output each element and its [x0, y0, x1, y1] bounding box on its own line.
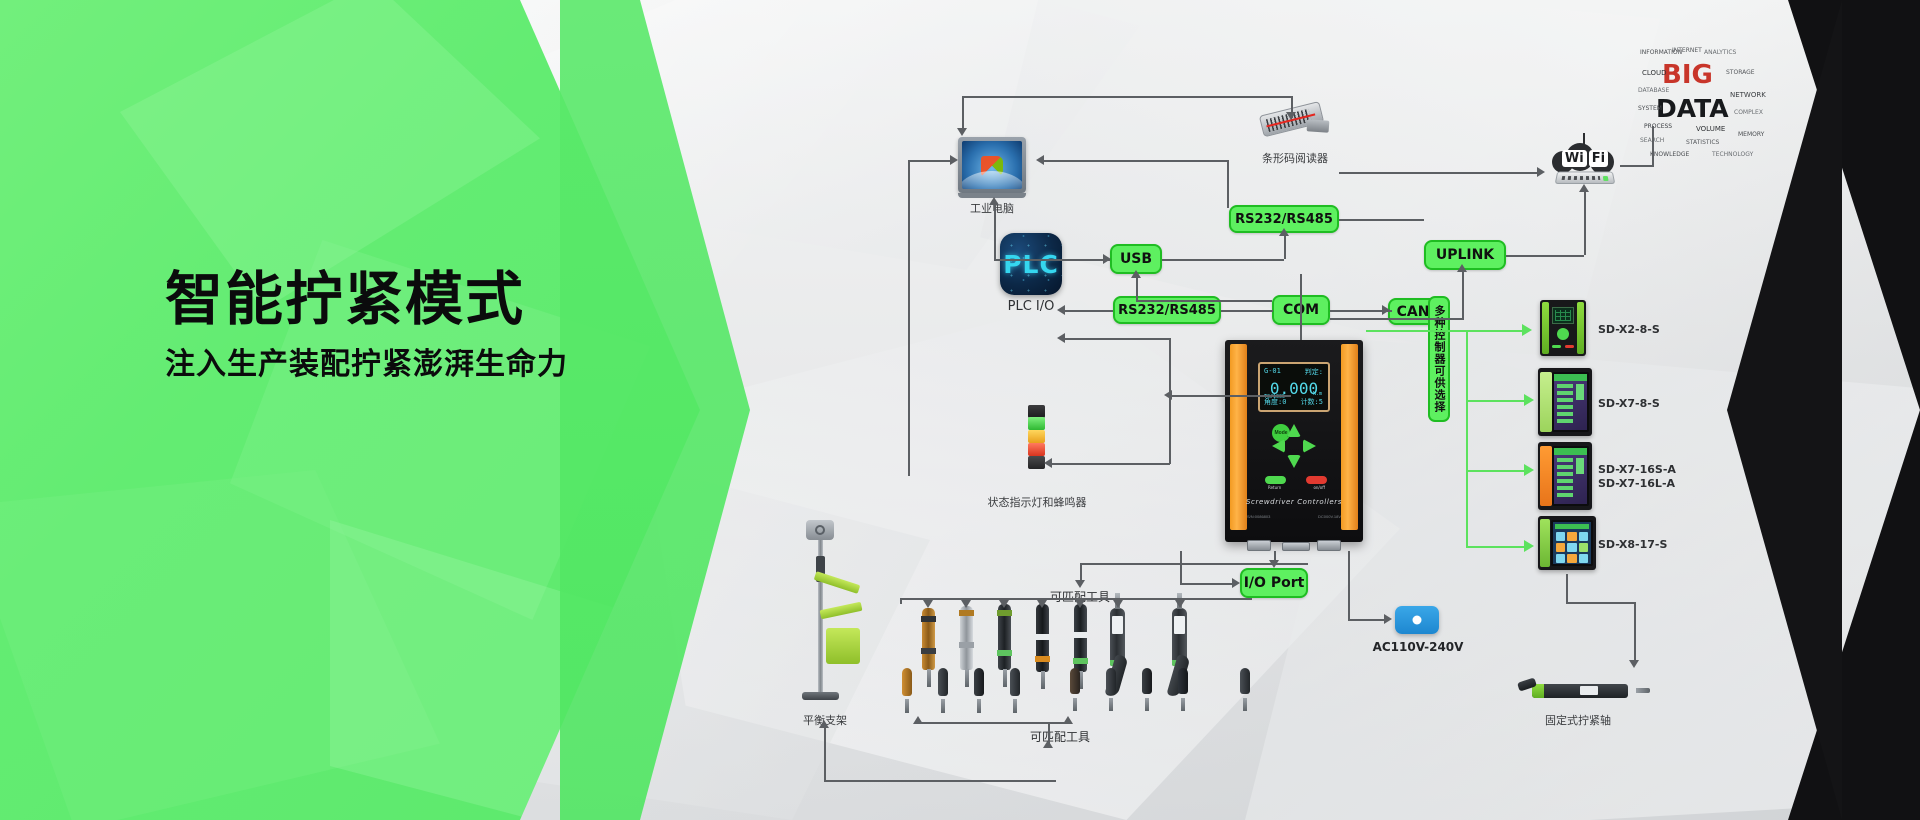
- arrow-to-pc-top: [957, 128, 967, 136]
- barcode-reader-grip: [1307, 119, 1330, 133]
- link-wifi-bigdata-h: [1620, 165, 1654, 167]
- link-pc-rs232-v: [1227, 160, 1229, 208]
- power-adaptor-icon: [1395, 606, 1439, 634]
- unit1-dpad: [1557, 328, 1569, 340]
- controller-serial-right: DC000V.18V: [1318, 514, 1341, 519]
- tool-small-6: [1106, 668, 1116, 694]
- arrow-bracket-down: [1043, 740, 1053, 748]
- arrow-to-wifi-bottom: [1579, 184, 1589, 192]
- tool-screwdriver-4: [1036, 604, 1049, 672]
- plc-icon: PLC: [1000, 233, 1062, 295]
- tool-screwdriver-5: [1074, 604, 1087, 672]
- controller-serial-left: S/N:0086803: [1247, 514, 1270, 519]
- lcd-count: 计数:5: [1301, 397, 1323, 407]
- arrow-bracket-right: [1063, 716, 1073, 724]
- bigdata-word-4: DATABASE: [1638, 88, 1669, 94]
- link-ctrl-left-h: [1169, 395, 1291, 397]
- tool-small-8: [1178, 668, 1188, 694]
- link-spindle-h: [1566, 602, 1636, 604]
- link-arm-v: [824, 726, 826, 780]
- lcd-angle: 角度:0: [1264, 397, 1286, 407]
- link-usb-bottom-h: [1136, 300, 1272, 302]
- bigdata-word-12: KNOWLEDGE: [1650, 152, 1689, 158]
- page-subtitle: 注入生产装配拧紧澎湃生命力: [165, 346, 725, 384]
- bigdata-word-2: CLOUD: [1642, 70, 1667, 77]
- label-model-sd-x2-8-s: SD-X2-8-S: [1598, 323, 1660, 336]
- link-ioport-left-h: [1180, 583, 1236, 585]
- arrow-to-pc-left: [950, 155, 958, 165]
- controller-dpad[interactable]: Mode: [1272, 424, 1316, 468]
- plc-icon-text: PLC: [1000, 233, 1062, 295]
- wifi-antenna: [1583, 133, 1585, 145]
- status-stack-light-icon: [1028, 405, 1045, 467]
- bigdata-word-1: ANALYTICS: [1704, 50, 1736, 56]
- wifi-status-led: [1603, 176, 1609, 181]
- big-data-wordcloud: BIG DATA INFORMATION ANALYTICS CLOUD STO…: [1638, 48, 1770, 166]
- tool-small-3: [974, 668, 984, 696]
- tool-small-7: [1142, 668, 1152, 694]
- link-rs232-uplink-h: [1339, 219, 1424, 221]
- link-ctrl-power-h: [1348, 619, 1386, 621]
- controller-port-center: [1282, 542, 1310, 551]
- green-arrow-1: [1522, 324, 1532, 336]
- link-uplink-wifi-v: [1584, 190, 1586, 255]
- green-arrow-2: [1524, 394, 1534, 406]
- label-tools-bottom: 可匹配工具: [1000, 728, 1120, 745]
- controller-brand-text: Screwdriver Controllers: [1225, 498, 1363, 506]
- arrow-to-plc-ctrl: [1057, 333, 1065, 343]
- link-com-left-h: [1221, 310, 1273, 312]
- screwdriver-controller-device: G-01 判定: 0.000 N.m TO#1005 角度:0 计数:5 Mod…: [1225, 340, 1363, 542]
- banner-text-block: 智能拧紧模式 注入生产装配拧紧澎湃生命力: [165, 268, 725, 383]
- dpad-down-button[interactable]: [1287, 455, 1301, 468]
- wifi-router-base: [1555, 172, 1616, 185]
- bigdata-word-14: INTERNET: [1672, 48, 1702, 54]
- arrow-tool-5: [1075, 600, 1085, 608]
- model-unit-sd-x8-17-s: [1538, 516, 1596, 570]
- lcd-program: G-01: [1264, 367, 1281, 375]
- tool-small-9: [1240, 668, 1250, 694]
- arrow-to-stack-light: [1044, 458, 1052, 468]
- arrow-tool-4: [1037, 600, 1047, 608]
- tool-small-5: [1070, 668, 1080, 694]
- arrow-bracket-left: [913, 716, 923, 724]
- arrow-to-pc-right: [1036, 155, 1044, 165]
- industrial-pc-screen: [962, 141, 1022, 189]
- link-pc-top-h: [962, 96, 1292, 98]
- green-branch-3: [1466, 470, 1528, 472]
- arrow-to-ioport: [1269, 560, 1279, 568]
- link-left-bus-h: [908, 160, 954, 162]
- arrow-to-usb: [1103, 254, 1111, 264]
- controller-port-right: [1317, 540, 1341, 551]
- bigdata-word-3: STORAGE: [1726, 70, 1755, 76]
- label-fixed-spindle: 固定式拧紧轴: [1508, 712, 1648, 728]
- arrow-to-plc-rs232: [1057, 305, 1065, 315]
- arrow-tool-6: [1113, 600, 1123, 608]
- arrow-to-fixed-spindle: [1629, 660, 1639, 668]
- link-left-bus-v: [908, 160, 910, 476]
- link-stack-h: [1050, 463, 1170, 465]
- wifi-router-icon: WiFi: [1548, 143, 1620, 185]
- link-pc-top-v: [962, 96, 964, 132]
- banner-stage: 智能拧紧模式 注入生产装配拧紧澎湃生命力 工业电脑 PLC PLC I/O 条形…: [0, 0, 1920, 820]
- green-arrow-3: [1524, 464, 1534, 476]
- label-model-sd-x8-17-s: SD-X8-17-S: [1598, 538, 1667, 551]
- tool-small-1: [902, 668, 912, 696]
- link-arm-h: [824, 780, 1056, 782]
- arrow-tool-3: [999, 600, 1009, 608]
- link-plc-ctrl-h: [1063, 338, 1171, 340]
- bigdata-word-9: VOLUME: [1696, 126, 1725, 133]
- arrow-tool-2: [961, 600, 971, 608]
- arrow-to-balance-arm: [819, 720, 829, 728]
- bigdata-word-11: STATISTICS: [1686, 140, 1719, 146]
- controller-port-left: [1247, 540, 1271, 551]
- model-unit-sd-x7-8-s: [1538, 368, 1592, 436]
- bigdata-word-13: TECHNOLOGY: [1712, 152, 1753, 158]
- power-button-caption: on/off: [1313, 485, 1325, 490]
- return-button-caption: Return: [1268, 485, 1281, 490]
- link-can-uplink-v: [1462, 270, 1464, 320]
- bigdata-word-7: COMPLEX: [1734, 110, 1763, 116]
- green-branch-2: [1466, 400, 1528, 402]
- link-pc-rs232-h: [1043, 160, 1229, 162]
- label-status-light: 状态指示灯和蜂鸣器: [958, 494, 1116, 510]
- arrow-to-can: [1382, 305, 1390, 315]
- arrow-usb-to-pc: [989, 197, 999, 205]
- controller-lcd-screen: G-01 判定: 0.000 N.m TO#1005 角度:0 计数:5: [1258, 362, 1330, 412]
- wifi-label: WiFi: [1557, 148, 1613, 168]
- tool-small-4: [1010, 668, 1020, 696]
- link-usb-right-h: [1162, 259, 1284, 261]
- arrow-to-uplink: [1457, 264, 1467, 272]
- arrow-ctrl-left: [1164, 390, 1172, 400]
- link-com-ctrl-v: [1300, 274, 1302, 340]
- label-plc-io: PLC I/O: [964, 299, 1098, 314]
- link-usb-pc-v: [994, 203, 996, 259]
- green-bus-in: [1366, 330, 1466, 332]
- model-unit-sd-x7-16-a: [1538, 442, 1592, 510]
- tool-pistol-screwdriver-1: [1110, 608, 1125, 666]
- arrow-to-wifi: [1537, 167, 1545, 177]
- label-model-sd-x7-8-s: SD-X7-8-S: [1598, 397, 1660, 410]
- link-usb-pc-h: [994, 259, 1110, 261]
- arrow-to-tools-top: [1075, 580, 1085, 588]
- tool-small-2: [938, 668, 948, 696]
- bigdata-word-15: MEMORY: [1738, 132, 1764, 138]
- arrow-tool-1: [923, 600, 933, 608]
- lcd-judge-label: 判定:: [1305, 367, 1323, 377]
- bigdata-word-big: BIG: [1662, 62, 1713, 88]
- arrow-usb-to-rs232: [1279, 228, 1289, 236]
- arrow-ioport-left: [1232, 578, 1240, 588]
- bigdata-word-5: NETWORK: [1730, 92, 1766, 99]
- controller-selection-label: 多种控制器可供选择: [1428, 296, 1450, 422]
- link-usb-bottom-v: [1136, 274, 1138, 302]
- link-uplink-wifi-h: [1506, 255, 1584, 257]
- dpad-right-button[interactable]: [1303, 439, 1316, 453]
- bigdata-word-8: PROCESS: [1644, 124, 1672, 130]
- mode-button[interactable]: Mode: [1272, 424, 1290, 442]
- tool-screwdriver-2: [960, 606, 973, 670]
- arrow-tool-7: [1175, 600, 1185, 608]
- link-rs232-wifi-h: [1339, 172, 1539, 174]
- label-barcode-reader: 条形码阅读器: [1195, 150, 1395, 166]
- link-rs232-plc-h: [1063, 310, 1113, 312]
- model-unit-sd-x2-8-s: [1540, 300, 1586, 356]
- link-spindle-v1: [1566, 574, 1568, 602]
- arrow-to-usb-bottom: [1131, 270, 1141, 278]
- link-plc-ctrl-v: [1169, 338, 1171, 464]
- link-usb-right-v: [1284, 233, 1286, 259]
- link-spindle-v2: [1634, 602, 1636, 664]
- link-ctrl-power-v: [1348, 551, 1350, 619]
- label-model-sd-x7-16l-a: SD-X7-16L-A: [1598, 477, 1675, 490]
- bigdata-word-6: SYSTEM: [1638, 106, 1662, 112]
- link-ioport-left-v: [1180, 551, 1182, 583]
- return-button[interactable]: [1265, 476, 1286, 484]
- arrow-to-barcode: [1286, 112, 1296, 120]
- fixed-spindle-icon: [1518, 676, 1638, 706]
- link-can-uplink-h: [1330, 318, 1462, 320]
- green-arrow-4: [1524, 540, 1534, 552]
- green-branch-4: [1466, 546, 1528, 548]
- arrow-to-adaptor: [1384, 614, 1392, 624]
- label-model-sd-x7-16s-a: SD-X7-16S-A: [1598, 463, 1676, 476]
- label-power-input: AC110V-240V: [1360, 640, 1476, 654]
- chip-io-port[interactable]: I/O Port: [1240, 568, 1308, 598]
- screen-wave: [962, 171, 1022, 189]
- tool-pistol-screwdriver-2: [1172, 608, 1187, 666]
- link-tools-bus-stub: [900, 598, 902, 604]
- link-wifi-bigdata-v: [1652, 126, 1654, 166]
- green-bus-v: [1466, 330, 1468, 548]
- page-title: 智能拧紧模式: [165, 268, 725, 332]
- tool-screwdriver-1: [922, 608, 935, 670]
- balance-arm-icon: [780, 520, 870, 700]
- green-branch-1: [1466, 330, 1526, 332]
- power-button[interactable]: [1306, 476, 1327, 484]
- tool-screwdriver-3: [998, 604, 1011, 670]
- bigdata-word-data: DATA: [1656, 96, 1729, 121]
- unit1-screen: [1552, 307, 1574, 324]
- industrial-pc-icon: [958, 137, 1026, 193]
